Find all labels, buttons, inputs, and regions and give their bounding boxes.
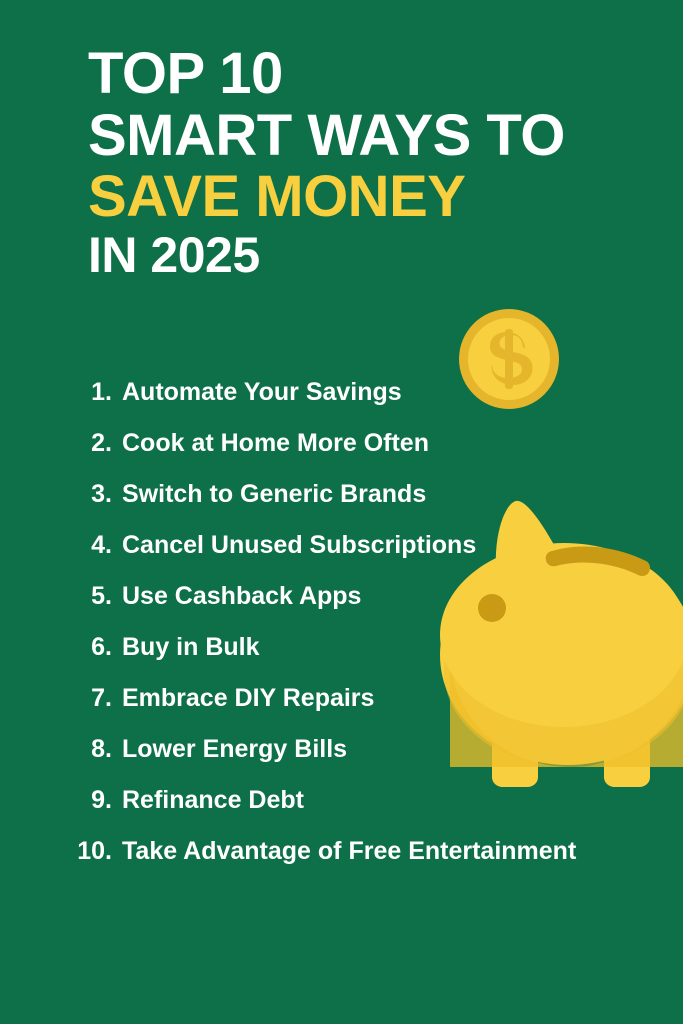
list-item-number: 2.	[0, 429, 122, 458]
tips-list: 1.Automate Your Savings2.Cook at Home Mo…	[0, 378, 660, 888]
headline-line-3-accent: SAVE MONEY	[88, 169, 668, 225]
headline-line-2: SMART WAYS TO	[88, 108, 668, 164]
list-item: 4.Cancel Unused Subscriptions	[0, 531, 660, 582]
list-item-label: Take Advantage of Free Entertainment	[122, 837, 576, 866]
page-title: TOP 10 SMART WAYS TO SAVE MONEY IN 2025	[88, 46, 668, 279]
list-item-number: 6.	[0, 633, 122, 662]
list-item: 5.Use Cashback Apps	[0, 582, 660, 633]
list-item-label: Automate Your Savings	[122, 378, 402, 407]
list-item-label: Use Cashback Apps	[122, 582, 361, 611]
list-item-label: Switch to Generic Brands	[122, 480, 426, 509]
list-item-label: Embrace DIY Repairs	[122, 684, 374, 713]
list-item: 1.Automate Your Savings	[0, 378, 660, 429]
list-item: 7.Embrace DIY Repairs	[0, 684, 660, 735]
list-item: 10.Take Advantage of Free Entertainment	[0, 837, 660, 888]
list-item: 9.Refinance Debt	[0, 786, 660, 837]
headline-line-4-year: IN 2025	[88, 231, 668, 279]
list-item: 6.Buy in Bulk	[0, 633, 660, 684]
list-item-number: 3.	[0, 480, 122, 509]
list-item-label: Lower Energy Bills	[122, 735, 347, 764]
list-item-label: Cancel Unused Subscriptions	[122, 531, 476, 560]
list-item-number: 9.	[0, 786, 122, 815]
list-item: 2.Cook at Home More Often	[0, 429, 660, 480]
list-item-number: 5.	[0, 582, 122, 611]
list-item-label: Cook at Home More Often	[122, 429, 429, 458]
list-item-number: 8.	[0, 735, 122, 764]
infographic-poster: TOP 10 SMART WAYS TO SAVE MONEY IN 2025 …	[0, 0, 683, 1024]
headline-line-1: TOP 10	[88, 46, 668, 102]
list-item-label: Refinance Debt	[122, 786, 304, 815]
list-item-label: Buy in Bulk	[122, 633, 260, 662]
list-item-number: 1.	[0, 378, 122, 407]
list-item-number: 10.	[0, 837, 122, 866]
list-item-number: 4.	[0, 531, 122, 560]
list-item: 8.Lower Energy Bills	[0, 735, 660, 786]
list-item-number: 7.	[0, 684, 122, 713]
list-item: 3.Switch to Generic Brands	[0, 480, 660, 531]
